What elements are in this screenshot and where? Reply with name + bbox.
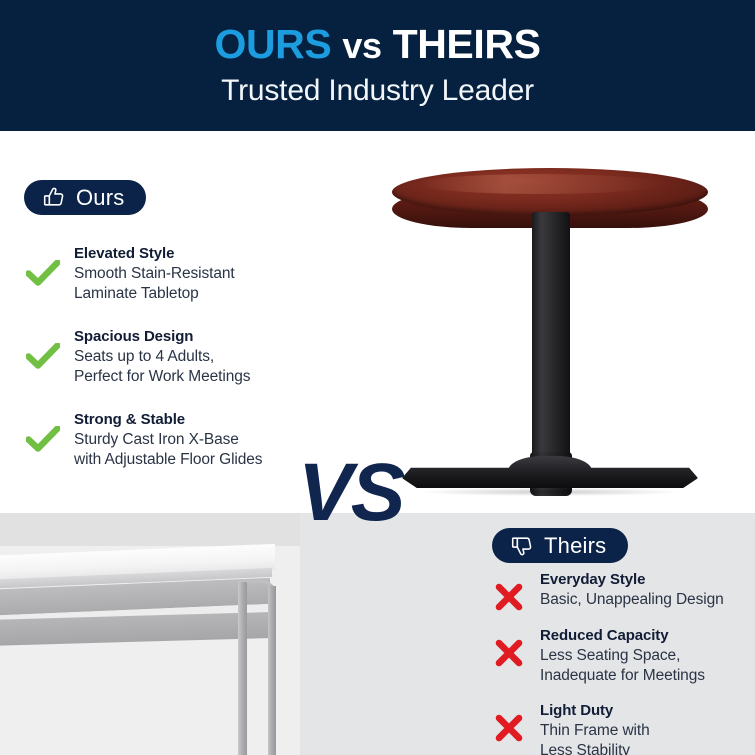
list-item-title: Light Duty xyxy=(540,701,650,721)
check-icon xyxy=(22,327,64,369)
theirs-badge-label: Theirs xyxy=(544,533,606,559)
title-theirs-word: THEIRS xyxy=(393,21,541,67)
page-title: OURS vs THEIRS xyxy=(214,23,540,66)
table-shadow xyxy=(420,488,680,496)
page-subtitle: Trusted Industry Leader xyxy=(221,74,534,108)
cross-icon xyxy=(488,626,530,668)
theirs-badge[interactable]: Theirs xyxy=(492,528,628,563)
list-item: Elevated Style Smooth Stain-Resistant La… xyxy=(22,244,322,305)
cross-icon xyxy=(488,701,530,743)
list-item-text: Elevated Style Smooth Stain-Resistant La… xyxy=(74,244,235,305)
header-banner: OURS vs THEIRS Trusted Industry Leader xyxy=(0,0,755,131)
ours-product-image xyxy=(380,160,720,515)
list-item-title: Everyday Style xyxy=(540,570,724,590)
title-ours-word: OURS xyxy=(214,21,331,67)
list-item: Everyday Style Basic, Unappealing Design xyxy=(488,570,755,612)
list-item-text: Light Duty Thin Frame with Less Stabilit… xyxy=(540,701,650,755)
list-item: Spacious Design Seats up to 4 Adults, Pe… xyxy=(22,327,322,388)
thumbs-down-icon xyxy=(510,533,535,558)
list-item: Light Duty Thin Frame with Less Stabilit… xyxy=(488,701,755,755)
list-item-title: Elevated Style xyxy=(74,244,235,264)
ours-feature-list: Elevated Style Smooth Stain-Resistant La… xyxy=(22,244,322,493)
thumbs-up-icon xyxy=(42,185,67,210)
comparison-infographic: OURS vs THEIRS Trusted Industry Leader V… xyxy=(0,0,755,755)
theirs-product-image xyxy=(0,540,310,755)
table-base-hub xyxy=(508,456,592,486)
competitor-leg-back xyxy=(268,586,276,755)
list-item-title: Reduced Capacity xyxy=(540,626,705,646)
list-item-text: Reduced Capacity Less Seating Space, Ina… xyxy=(540,626,705,687)
list-item: Strong & Stable Sturdy Cast Iron X-Base … xyxy=(22,410,322,471)
list-item: Reduced Capacity Less Seating Space, Ina… xyxy=(488,626,755,687)
check-icon xyxy=(22,244,64,286)
list-item-desc: Seats up to 4 Adults, Perfect for Work M… xyxy=(74,347,250,388)
list-item-text: Strong & Stable Sturdy Cast Iron X-Base … xyxy=(74,410,262,471)
list-item-text: Everyday Style Basic, Unappealing Design xyxy=(540,570,724,610)
list-item-title: Strong & Stable xyxy=(74,410,262,430)
table-column xyxy=(532,212,570,462)
cross-icon xyxy=(488,570,530,612)
list-item-desc: Less Seating Space, Inadequate for Meeti… xyxy=(540,646,705,687)
list-item-title: Spacious Design xyxy=(74,327,250,347)
ours-badge[interactable]: Ours xyxy=(24,180,146,215)
list-item-desc: Thin Frame with Less Stability xyxy=(540,721,650,755)
list-item-desc: Basic, Unappealing Design xyxy=(540,590,724,611)
list-item-desc: Sturdy Cast Iron X-Base with Adjustable … xyxy=(74,430,262,471)
check-icon xyxy=(22,410,64,452)
list-item-text: Spacious Design Seats up to 4 Adults, Pe… xyxy=(74,327,250,388)
theirs-feature-list: Everyday Style Basic, Unappealing Design… xyxy=(488,570,755,755)
tabletop-highlight xyxy=(420,174,660,194)
competitor-leg-front xyxy=(238,582,247,755)
title-vs-word: vs xyxy=(342,25,381,66)
ours-badge-label: Ours xyxy=(76,185,124,211)
list-item-desc: Smooth Stain-Resistant Laminate Tabletop xyxy=(74,264,235,305)
